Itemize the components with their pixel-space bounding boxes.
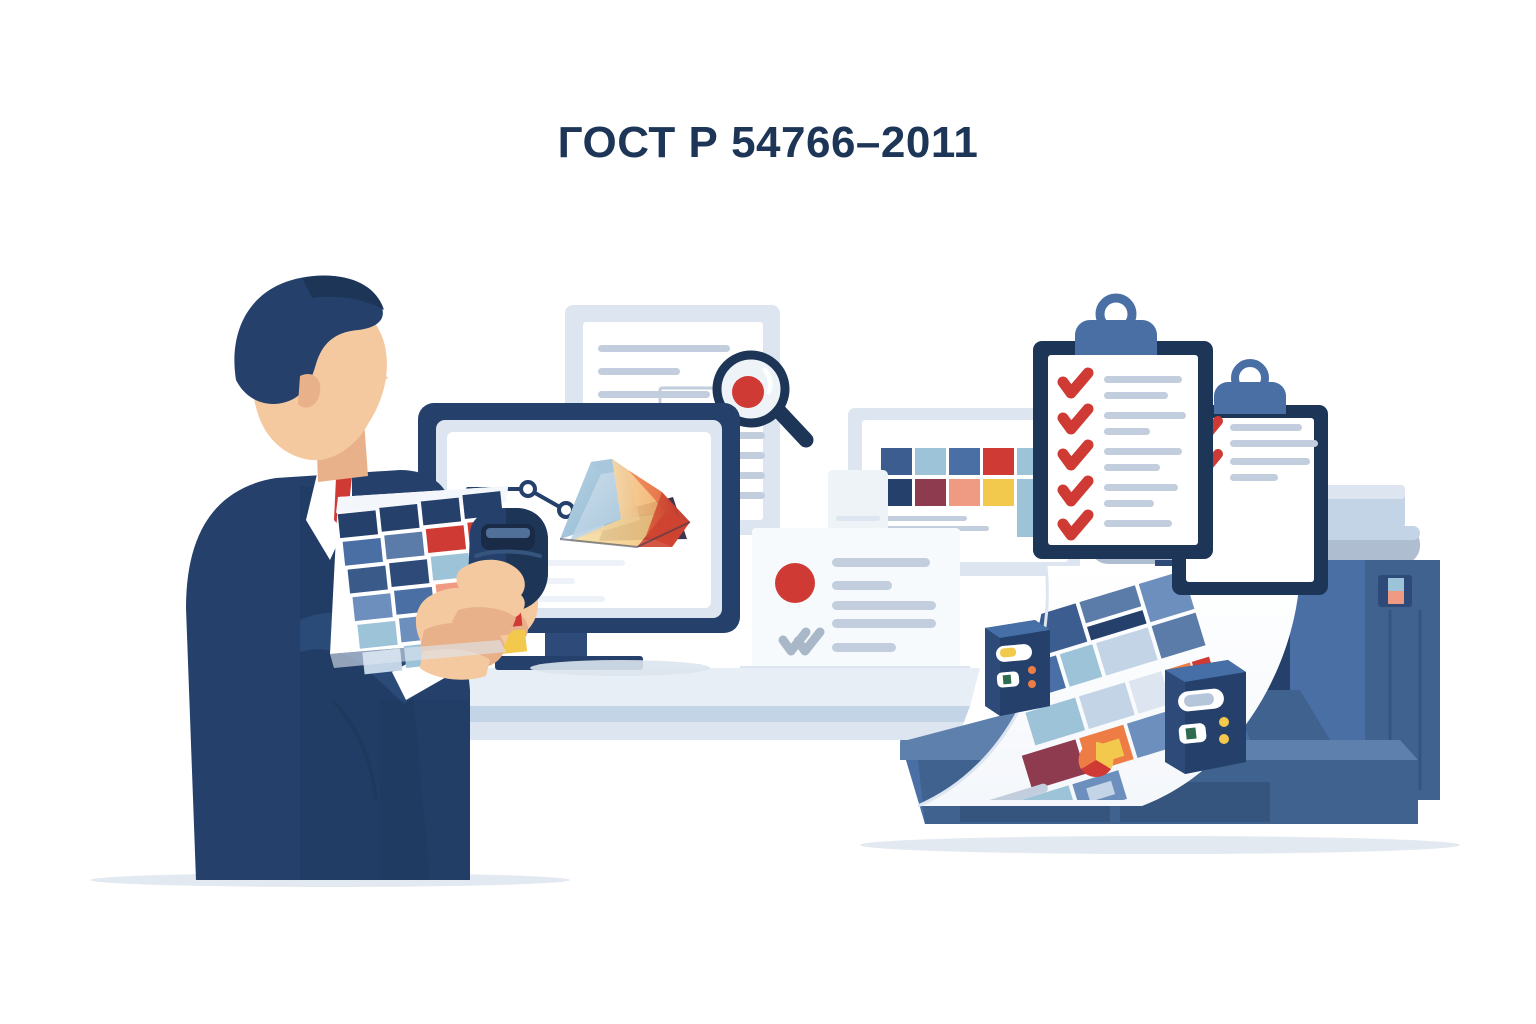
magnifier-target-dot xyxy=(732,376,764,408)
press-control-panel[interactable] xyxy=(1378,575,1412,607)
illustration-canvas: ГОСТ Р 54766–2011 xyxy=(0,0,1536,1024)
approval-dot xyxy=(775,563,815,603)
ink-measurement-unit-left[interactable] xyxy=(985,620,1050,716)
checklist-clipboard-large xyxy=(1033,298,1213,559)
ink-measurement-unit-right[interactable] xyxy=(1165,660,1246,774)
desk-surface xyxy=(418,668,980,740)
scene-artwork xyxy=(0,0,1536,1024)
swatch-row-1 xyxy=(881,448,1048,475)
